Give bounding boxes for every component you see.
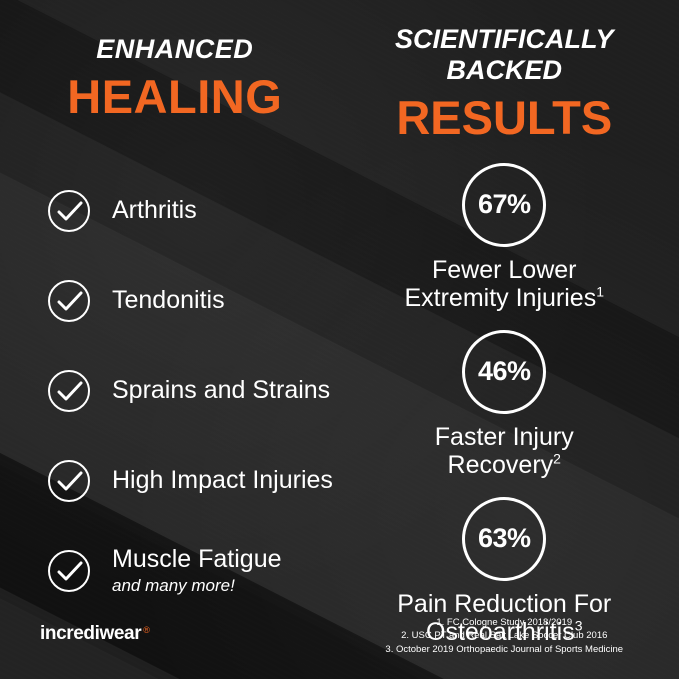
stat-label-line2: Recovery	[448, 451, 554, 479]
results-kicker-line1: SCIENTIFICALLY	[344, 24, 666, 55]
list-item-label: Sprains and Strains	[112, 377, 330, 405]
stat-footnote-marker: 1	[596, 283, 604, 299]
brand-logo: incrediwear ®	[40, 623, 150, 645]
stat-label-line1: Faster Injury	[344, 423, 666, 451]
list-item-label: Arthritis	[112, 197, 197, 225]
list-item: Tendonitis	[48, 256, 340, 346]
check-icon	[48, 550, 90, 592]
list-sub-note: and many more!	[112, 576, 282, 596]
footnote-3: 3. October 2019 Orthopaedic Journal of S…	[340, 643, 670, 657]
stat-label: Fewer Lower Extremity Injuries1	[344, 256, 666, 312]
list-item-label: Tendonitis	[112, 287, 225, 315]
stat-label: Faster Injury Recovery2	[344, 423, 666, 479]
stat-label-line1: Pain Reduction For	[344, 590, 666, 618]
brand-name: incrediwear	[40, 623, 141, 645]
check-icon	[48, 370, 90, 412]
check-icon	[48, 190, 90, 232]
list-item-label: Muscle Fatigue	[112, 545, 282, 573]
stat-value: 63%	[478, 523, 531, 554]
stat-label-line2: Extremity Injuries	[404, 284, 596, 312]
results-headline: RESULTS	[344, 90, 666, 145]
stat-block: 46% Faster Injury Recovery2	[344, 330, 666, 479]
check-icon	[48, 460, 90, 502]
stat-circle: 63%	[462, 497, 546, 581]
results-panel: SCIENTIFICALLY BACKED RESULTS 67% Fewer …	[340, 0, 679, 679]
benefits-heading: ENHANCED HEALING	[0, 34, 340, 124]
list-item: Sprains and Strains	[48, 346, 340, 436]
footnote-2: 2. USC PT and Real Salt Lake Soccer Club…	[340, 629, 670, 643]
stat-label-line1: Fewer Lower	[344, 256, 666, 284]
results-kicker-line2: BACKED	[344, 55, 666, 86]
stat-footnote-marker: 2	[553, 450, 561, 466]
footnotes: 1. FC Cologne Study 2018/2019 2. USC PT …	[340, 616, 670, 657]
footnote-1: 1. FC Cologne Study 2018/2019	[340, 616, 670, 630]
benefits-panel: ENHANCED HEALING Arthritis Tendonitis	[0, 0, 340, 679]
registered-mark-icon: ®	[143, 625, 150, 635]
promo-graphic: ENHANCED HEALING Arthritis Tendonitis	[0, 0, 679, 679]
list-item: Arthritis	[48, 166, 340, 256]
check-icon	[48, 280, 90, 322]
stat-value: 46%	[478, 356, 531, 387]
results-heading: SCIENTIFICALLY BACKED RESULTS	[344, 24, 666, 145]
stat-value: 67%	[478, 189, 531, 220]
list-item: Muscle Fatigue and many more!	[48, 526, 340, 616]
stat-block: 67% Fewer Lower Extremity Injuries1	[344, 163, 666, 312]
list-item: High Impact Injuries	[48, 436, 340, 526]
benefits-list: Arthritis Tendonitis Sprains and Strains	[0, 166, 340, 616]
stat-circle: 67%	[462, 163, 546, 247]
benefits-kicker: ENHANCED	[10, 34, 340, 65]
stat-circle: 46%	[462, 330, 546, 414]
list-item-label: High Impact Injuries	[112, 467, 333, 495]
benefits-headline: HEALING	[10, 69, 340, 124]
